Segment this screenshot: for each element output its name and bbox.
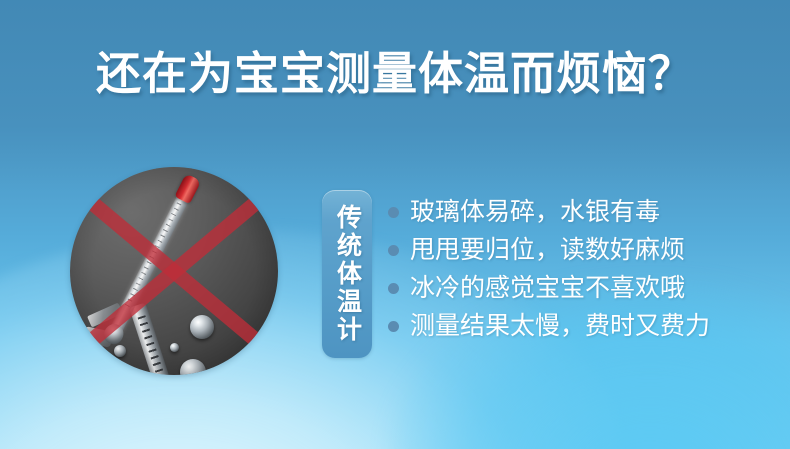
list-item-label: 甩甩要归位，读数好麻烦	[410, 235, 685, 265]
bullet-dot-icon	[388, 321, 399, 332]
category-badge-label: 传统体温计	[332, 204, 363, 344]
list-item: 测量结果太慢，费时又费力	[388, 307, 758, 345]
list-item-label: 玻璃体易碎，水银有毒	[410, 197, 660, 227]
category-badge: 传统体温计	[322, 190, 372, 358]
promo-banner: 还在为宝宝测量体温而烦恼？ 传统体温计 玻璃体易碎，水银有毒	[0, 0, 790, 449]
product-photo-circle	[70, 167, 278, 375]
bullet-dot-icon	[388, 245, 399, 256]
list-item: 冰冷的感觉宝宝不喜欢哦	[388, 269, 758, 307]
list-item: 玻璃体易碎，水银有毒	[388, 193, 758, 231]
drawback-list: 玻璃体易碎，水银有毒 甩甩要归位，读数好麻烦 冰冷的感觉宝宝不喜欢哦 测量结果太…	[388, 193, 758, 345]
bullet-dot-icon	[388, 207, 399, 218]
headline-text: 还在为宝宝测量体温而烦恼？	[0, 46, 790, 102]
bullet-dot-icon	[388, 283, 399, 294]
list-item: 甩甩要归位，读数好麻烦	[388, 231, 758, 269]
list-item-label: 测量结果太慢，费时又费力	[410, 311, 710, 341]
list-item-label: 冰冷的感觉宝宝不喜欢哦	[410, 273, 685, 303]
